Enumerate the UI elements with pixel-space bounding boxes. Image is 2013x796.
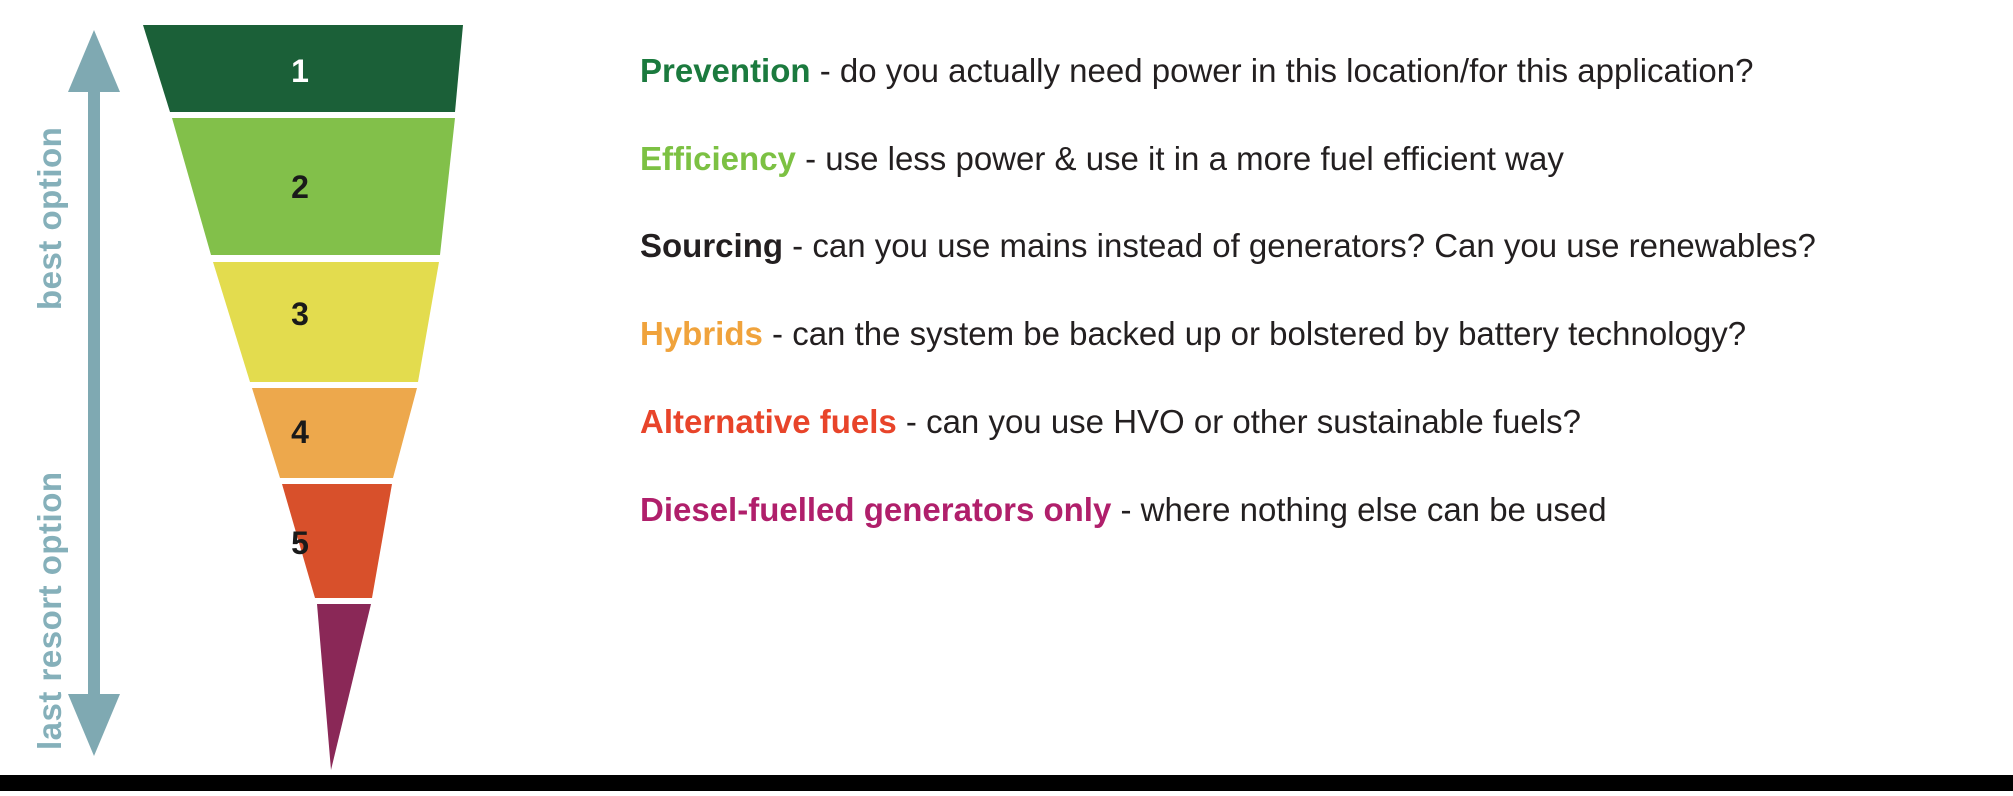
hierarchy-row-6-heading: Diesel-fuelled generators only xyxy=(640,491,1111,528)
hierarchy-text-list: Prevention - do you actually need power … xyxy=(640,0,2000,791)
hierarchy-row-2: Efficiency - use less power & use it in … xyxy=(640,141,1564,177)
hierarchy-row-3: Sourcing - can you use mains instead of … xyxy=(640,228,1816,264)
funnel-band-number-6: 6 xyxy=(291,636,309,672)
hierarchy-row-6: Diesel-fuelled generators only - where n… xyxy=(640,492,1607,528)
funnel-band-4 xyxy=(252,388,417,478)
hierarchy-row-1: Prevention - do you actually need power … xyxy=(640,53,1753,89)
funnel-band-6 xyxy=(317,604,371,770)
hierarchy-row-3-heading: Sourcing xyxy=(640,227,783,264)
funnel-band-number-2: 2 xyxy=(291,169,309,205)
funnel-band-3 xyxy=(213,262,439,382)
hierarchy-row-1-body: - do you actually need power in this loc… xyxy=(811,52,1754,89)
hierarchy-row-5-heading: Alternative fuels xyxy=(640,403,897,440)
funnel-diagram: 1 2 3 4 5 6 xyxy=(0,0,520,791)
hierarchy-row-4-heading: Hybrids xyxy=(640,315,763,352)
hierarchy-row-2-heading: Efficiency xyxy=(640,140,796,177)
hierarchy-row-4: Hybrids - can the system be backed up or… xyxy=(640,316,1746,352)
funnel-band-number-5: 5 xyxy=(291,525,309,561)
hierarchy-row-1-heading: Prevention xyxy=(640,52,811,89)
funnel-band-number-1: 1 xyxy=(291,53,309,89)
hierarchy-row-2-body: - use less power & use it in a more fuel… xyxy=(796,140,1564,177)
diagram-canvas: best option last resort option 1 2 3 4 5… xyxy=(0,0,2013,791)
hierarchy-row-5-body: - can you use HVO or other sustainable f… xyxy=(897,403,1581,440)
funnel-band-number-3: 3 xyxy=(291,296,309,332)
hierarchy-row-3-body: - can you use mains instead of generator… xyxy=(783,227,1816,264)
bottom-border-strip xyxy=(0,775,2013,791)
hierarchy-row-5: Alternative fuels - can you use HVO or o… xyxy=(640,404,1581,440)
hierarchy-row-6-body: - where nothing else can be used xyxy=(1111,491,1606,528)
funnel-band-2 xyxy=(172,118,455,255)
funnel-band-number-4: 4 xyxy=(291,414,309,450)
hierarchy-row-4-body: - can the system be backed up or bolster… xyxy=(763,315,1746,352)
